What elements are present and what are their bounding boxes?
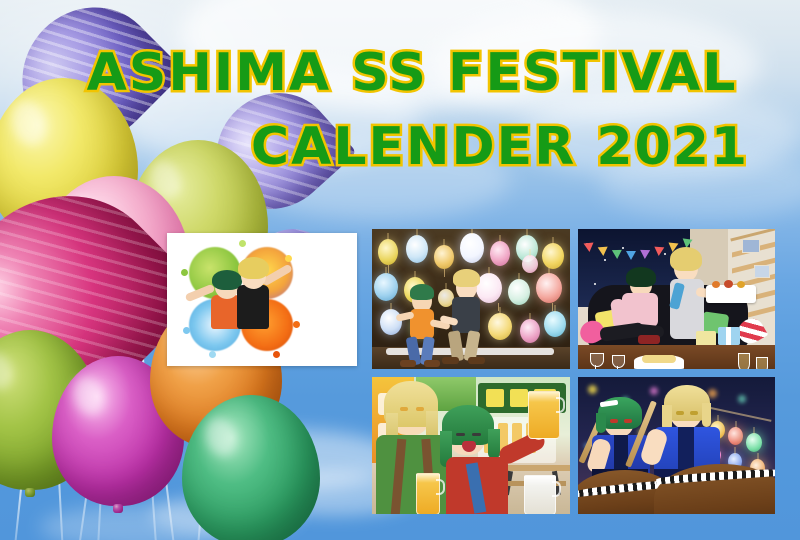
closed-eye <box>456 433 465 436</box>
eye <box>676 411 684 415</box>
four-seasons-art <box>167 233 357 366</box>
bunting-flag <box>612 250 622 259</box>
eye <box>690 411 698 415</box>
beer-festival-art <box>372 377 570 514</box>
closed-eye <box>472 433 481 436</box>
wall-picture <box>742 239 760 253</box>
lantern-festival-illustration[interactable] <box>372 229 570 369</box>
eye <box>624 419 632 423</box>
beer-glass <box>416 473 440 514</box>
eye <box>610 419 618 423</box>
bunting-flag <box>626 251 636 260</box>
festival-calendar-poster: ASHIMA SS FESTIVAL CALENDER 2021 <box>0 0 800 540</box>
home-party-art <box>578 229 775 369</box>
taiko-drum-art <box>578 377 775 514</box>
bunting-flag <box>654 247 665 257</box>
cloud <box>430 10 760 120</box>
cloud <box>520 90 800 180</box>
bunting-flag <box>598 247 609 257</box>
home-party-illustration[interactable] <box>578 229 775 369</box>
lantern-festival-art <box>372 229 570 369</box>
bunting-flag <box>584 243 595 253</box>
green-balloon <box>182 395 320 540</box>
beer-mug <box>524 475 556 514</box>
cloud <box>600 150 800 220</box>
wine-bottle <box>638 335 660 344</box>
eye <box>416 407 424 411</box>
taiko-drum-illustration[interactable] <box>578 377 775 514</box>
beer-festival-illustration[interactable] <box>372 377 570 514</box>
wall-picture <box>754 265 770 278</box>
eye <box>400 407 408 411</box>
bunting-flag <box>640 250 650 259</box>
raised-beer-mug <box>528 391 560 439</box>
four-seasons-illustration[interactable] <box>167 233 357 366</box>
